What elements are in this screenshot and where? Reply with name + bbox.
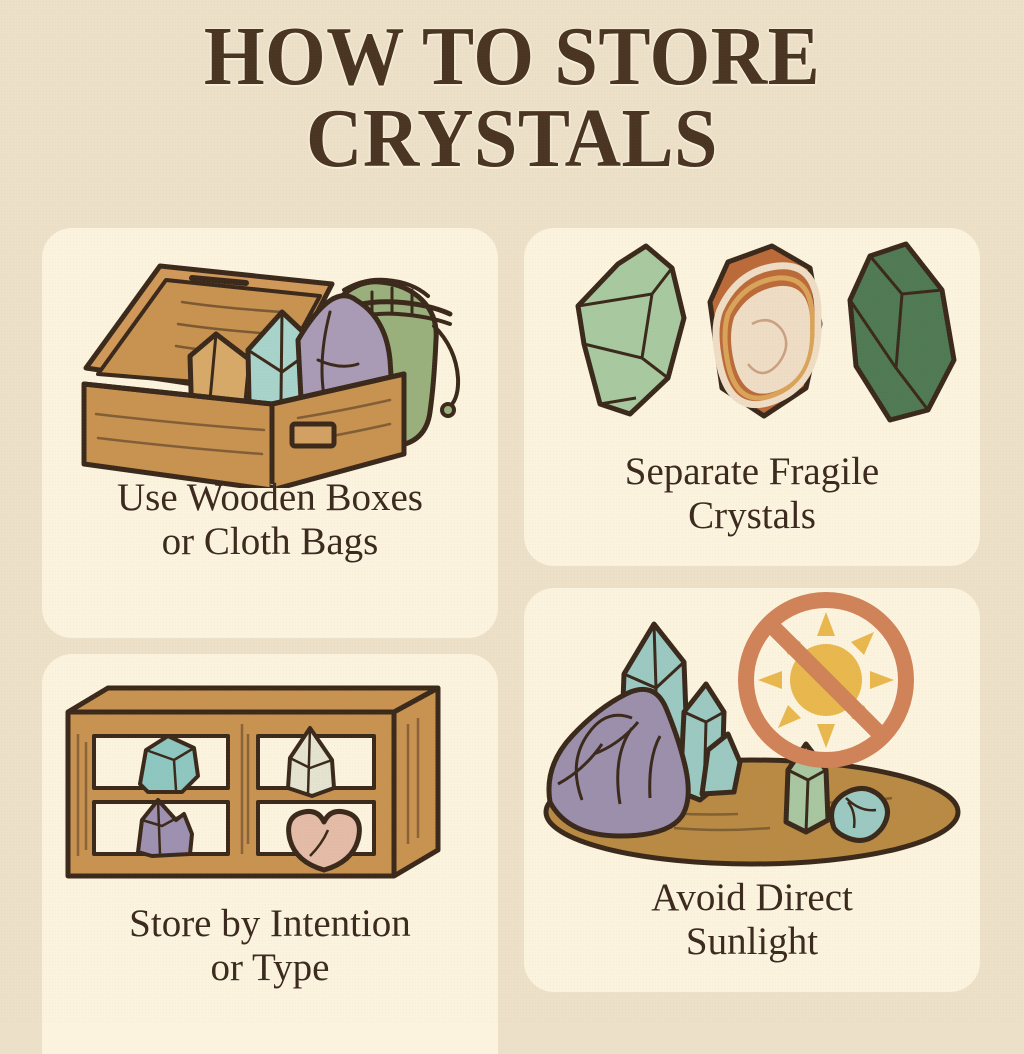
label-line1: Store by Intention xyxy=(129,902,411,945)
label-line2: or Cloth Bags xyxy=(162,520,379,563)
card-wooden-boxes[interactable]: Use Wooden Boxes or Cloth Bags xyxy=(42,228,498,638)
label-line1: Use Wooden Boxes xyxy=(117,476,423,519)
illustration-wooden-shelf xyxy=(42,654,498,904)
label-line1: Avoid Direct xyxy=(651,876,853,919)
illustration-three-crystals xyxy=(524,228,980,448)
card-avoid-sunlight[interactable]: Avoid Direct Sunlight xyxy=(524,588,980,992)
card-label-wooden-boxes: Use Wooden Boxes or Cloth Bags xyxy=(52,476,488,563)
illustration-wooden-chest-and-bag xyxy=(42,228,498,488)
page-title-line1: HOW TO STORE xyxy=(204,10,820,103)
label-line2: or Type xyxy=(211,946,330,989)
card-separate-fragile[interactable]: Separate Fragile Crystals xyxy=(524,228,980,566)
card-label-store-by-intention: Store by Intention or Type xyxy=(52,902,488,989)
card-label-separate-fragile: Separate Fragile Crystals xyxy=(534,450,970,537)
label-line2: Sunlight xyxy=(686,920,818,963)
card-store-by-intention[interactable]: Store by Intention or Type xyxy=(42,654,498,1054)
illustration-crystals-with-no-sun-sign xyxy=(524,588,980,888)
no-sunlight-icon xyxy=(746,600,906,760)
label-line2: Crystals xyxy=(688,494,816,537)
card-label-avoid-sunlight: Avoid Direct Sunlight xyxy=(534,876,970,963)
page-title: HOW TO STORE CRYSTALS xyxy=(36,16,988,181)
page-title-line2: CRYSTALS xyxy=(36,98,988,180)
label-line1: Separate Fragile xyxy=(625,450,879,493)
